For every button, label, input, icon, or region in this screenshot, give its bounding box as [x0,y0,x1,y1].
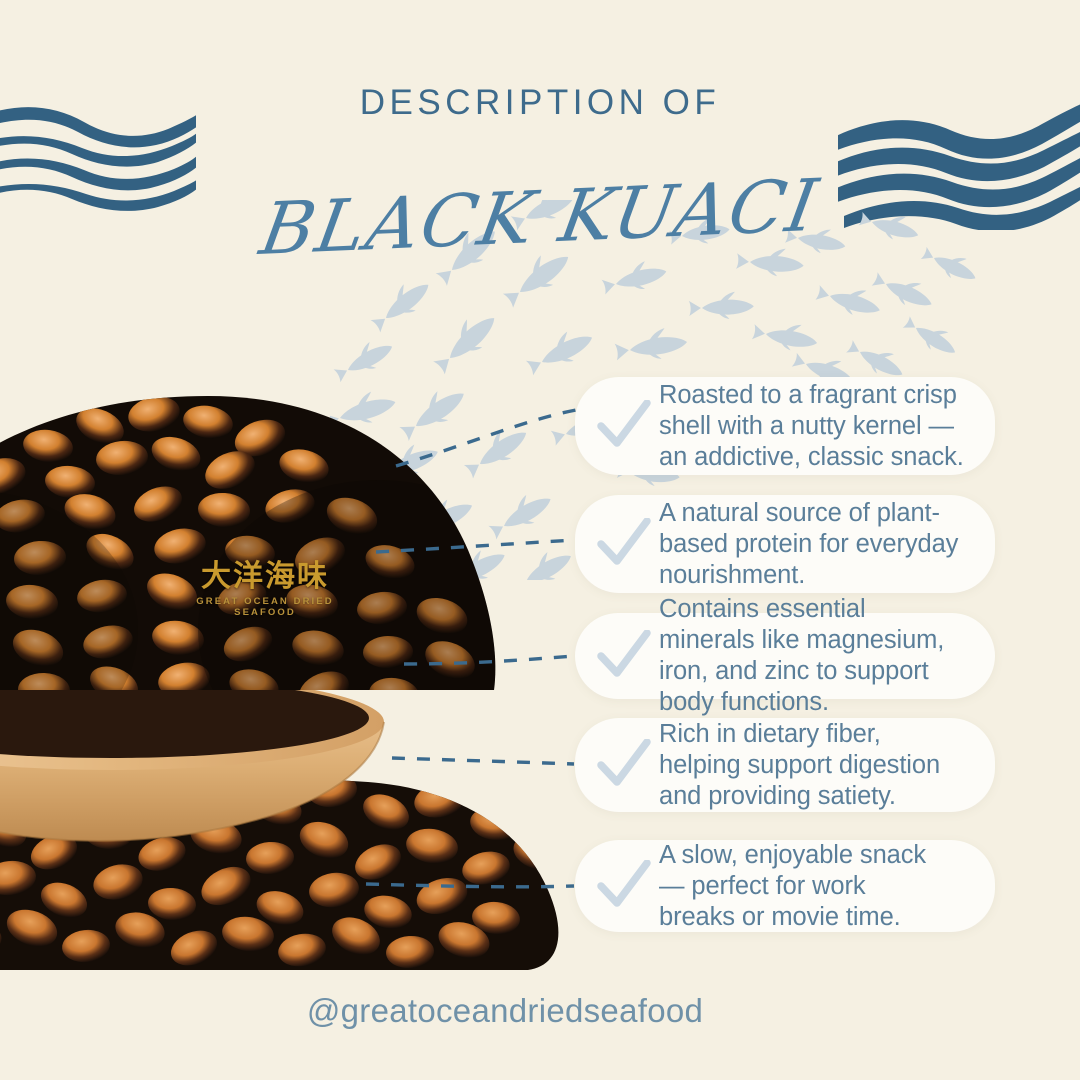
heading-block: DESCRIPTION OF [0,0,1080,123]
check-icon [585,400,663,452]
benefit-card[interactable]: Rich in dietary fiber, helping support d… [575,718,995,812]
benefit-text: Rich in dietary fiber, helping support d… [659,719,940,812]
benefit-text: Roasted to a fragrant crisp shell with a… [659,380,964,473]
product-title-wrap: BLACK KUACI [0,175,1080,285]
social-handle[interactable]: @greatoceandriedseafood [0,992,1080,1030]
benefit-card[interactable]: Contains essential minerals like magnesi… [575,613,995,699]
benefit-text: A natural source of plant- based protein… [659,498,958,591]
check-icon [585,860,663,912]
benefit-card[interactable]: Roasted to a fragrant crisp shell with a… [575,377,995,475]
benefit-card[interactable]: A natural source of plant- based protein… [575,495,995,593]
page-title: DESCRIPTION OF [0,83,1080,123]
benefit-text: Contains essential minerals like magnesi… [659,594,944,718]
check-icon [585,630,663,682]
benefit-text: A slow, enjoyable snack — perfect for wo… [659,840,926,933]
benefit-card[interactable]: A slow, enjoyable snack — perfect for wo… [575,840,995,932]
product-photo [0,330,608,990]
social-handle-text: @greatoceandriedseafood [307,992,773,1029]
check-icon [585,739,663,791]
poster-canvas: DESCRIPTION OF BLACK KUACI [0,0,1080,1080]
product-title: BLACK KUACI [255,163,825,271]
check-icon [585,518,663,570]
